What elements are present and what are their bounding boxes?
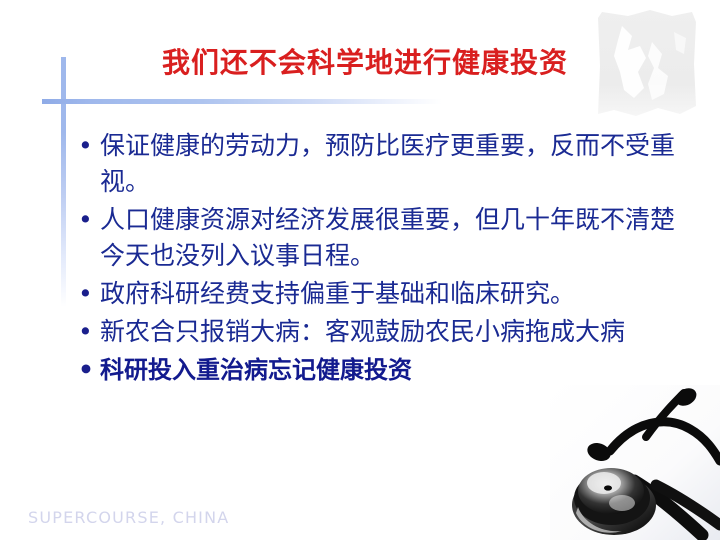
- slide-title: 我们还不会科学地进行健康投资: [80, 48, 650, 79]
- presentation-slide: 我们还不会科学地进行健康投资 • 保证健康的劳动力，预防比医疗更重要，反而不受重…: [0, 0, 720, 540]
- horizontal-accent-rule: [42, 99, 442, 104]
- stethoscope-photo: [550, 385, 720, 540]
- bullet-item: • 政府科研经费支持偏重于基础和临床研究。: [78, 276, 678, 312]
- bullet-text: 新农合只报销大病：客观鼓励农民小病拖成大病: [100, 314, 678, 350]
- bullet-list: • 保证健康的劳动力，预防比医疗更重要，反而不受重视。 • 人口健康资源对经济发…: [78, 128, 678, 390]
- vertical-accent-rule: [61, 57, 66, 307]
- bullet-marker-icon: •: [78, 314, 100, 350]
- bullet-marker-icon: •: [78, 276, 100, 312]
- bullet-item: • 保证健康的劳动力，预防比医疗更重要，反而不受重视。: [78, 128, 678, 200]
- bullet-text: 科研投入重治病忘记健康投资: [100, 352, 678, 388]
- bullet-item: • 新农合只报销大病：客观鼓励农民小病拖成大病: [78, 314, 678, 350]
- bullet-text: 保证健康的劳动力，预防比医疗更重要，反而不受重视。: [100, 128, 678, 200]
- bullet-text: 政府科研经费支持偏重于基础和临床研究。: [100, 276, 678, 312]
- bullet-marker-icon: •: [78, 202, 100, 238]
- footer-branding: SUPERCOURSE, CHINA: [28, 508, 229, 527]
- bullet-item: • 人口健康资源对经济发展很重要，但几十年既不清楚今天也没列入议事日程。: [78, 202, 678, 274]
- bullet-item-emphasis: • 科研投入重治病忘记健康投资: [78, 352, 678, 388]
- bullet-marker-icon: •: [78, 352, 100, 388]
- bullet-marker-icon: •: [78, 128, 100, 164]
- bullet-text: 人口健康资源对经济发展很重要，但几十年既不清楚今天也没列入议事日程。: [100, 202, 678, 274]
